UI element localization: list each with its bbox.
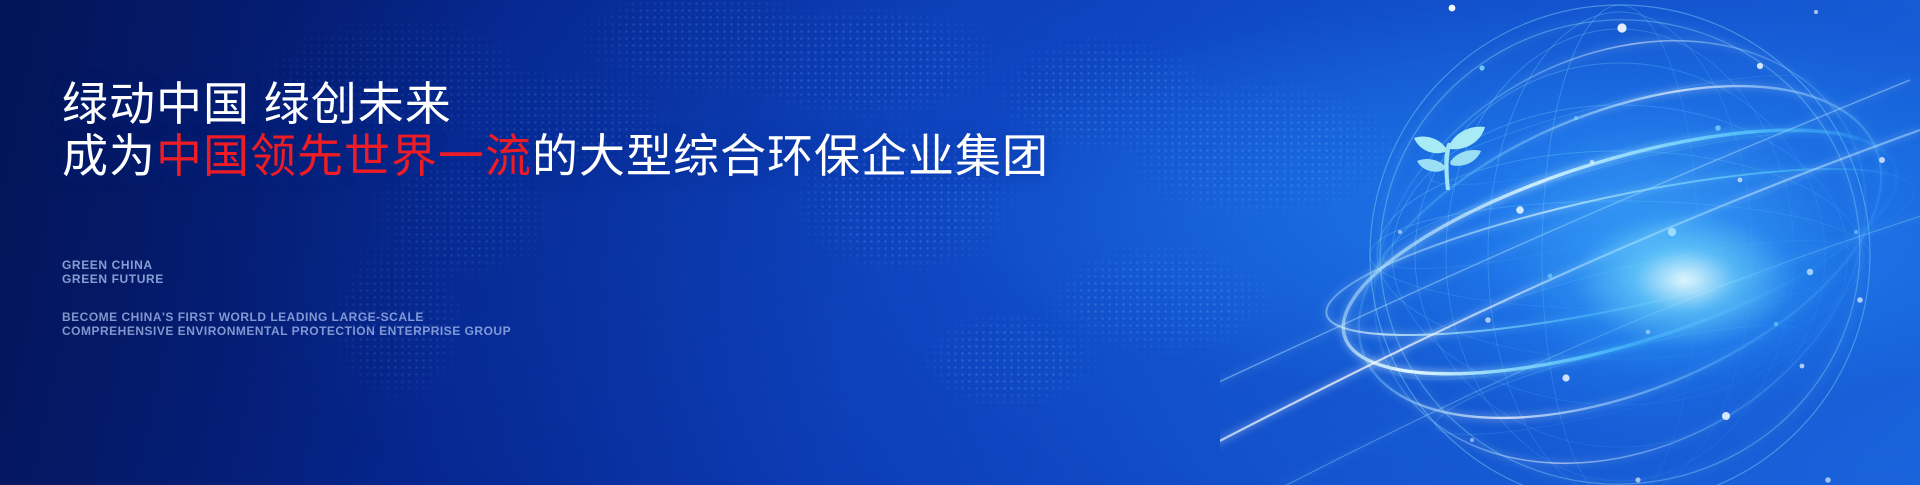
headline-line-1: 绿动中国 绿创未来 — [62, 78, 452, 130]
sprout-leaf-icon — [1403, 112, 1489, 198]
headline-suffix: 的大型综合环保企业集团 — [532, 130, 1049, 182]
statement-line-1: BECOME CHINA'S FIRST WORLD LEADING LARGE… — [62, 310, 511, 324]
hero-banner: 绿动中国 绿创未来 成为中国领先世界一流的大型综合环保企业集团 GREEN CH… — [0, 0, 1920, 485]
tagline-line-2: GREEN FUTURE — [62, 272, 164, 286]
headline-line-2: 成为中国领先世界一流的大型综合环保企业集团 — [62, 130, 1049, 182]
headline-highlight: 中国领先世界一流 — [156, 130, 532, 182]
globe-wireframe-icon — [1220, 0, 1920, 485]
tagline-line-1: GREEN CHINA — [62, 258, 164, 272]
page-title: 绿动中国 绿创未来 成为中国领先世界一流的大型综合环保企业集团 — [62, 78, 1049, 182]
tagline-english: GREEN CHINA GREEN FUTURE — [62, 258, 164, 286]
globe-core-glow — [1520, 180, 1850, 380]
statement-english: BECOME CHINA'S FIRST WORLD LEADING LARGE… — [62, 310, 511, 338]
headline-prefix: 成为 — [62, 130, 156, 182]
statement-line-2: COMPREHENSIVE ENVIRONMENTAL PROTECTION E… — [62, 324, 511, 338]
